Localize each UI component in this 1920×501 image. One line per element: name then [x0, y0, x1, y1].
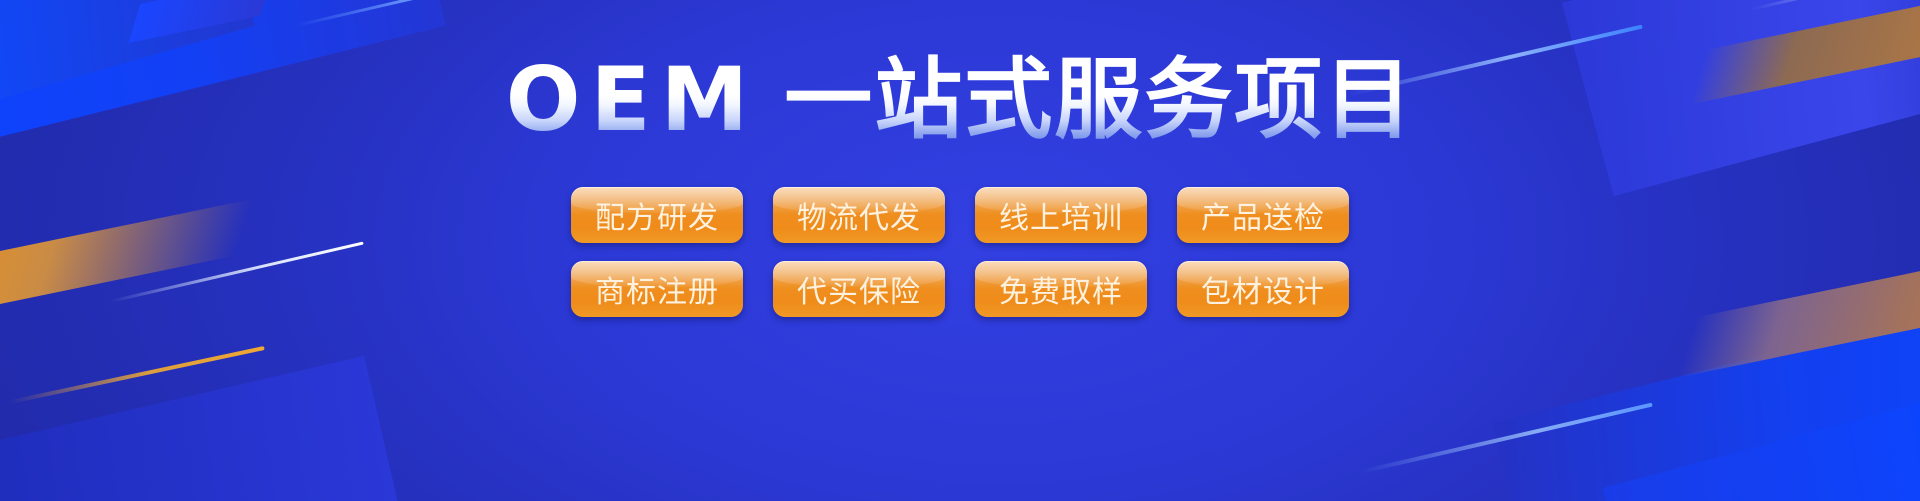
service-chip-label: 代买保险: [797, 267, 921, 311]
banner-content: OEM一站式服务项目 配方研发 物流代发 线上培训 产品送检 商标注册: [0, 0, 1920, 501]
service-chip-free-sampling[interactable]: 免费取样: [975, 261, 1147, 317]
service-chip-row-2: 商标注册 代买保险 免费取样 包材设计: [571, 261, 1349, 317]
service-chip-grid: 配方研发 物流代发 线上培训 产品送检 商标注册 代买保险: [571, 187, 1349, 317]
banner-headline: OEM一站式服务项目: [506, 52, 1415, 147]
service-chip-insurance-purchase[interactable]: 代买保险: [773, 261, 945, 317]
service-chip-label: 包材设计: [1201, 267, 1325, 311]
service-chip-packaging-design[interactable]: 包材设计: [1177, 261, 1349, 317]
promo-banner: OEM一站式服务项目 配方研发 物流代发 线上培训 产品送检 商标注册: [0, 0, 1920, 501]
service-chip-logistics-dropship[interactable]: 物流代发: [773, 187, 945, 243]
headline-chinese: 一站式服务项目: [784, 48, 1414, 151]
service-chip-trademark-registration[interactable]: 商标注册: [571, 261, 743, 317]
service-chip-row-1: 配方研发 物流代发 线上培训 产品送检: [571, 187, 1349, 243]
headline-latin: OEM: [506, 48, 759, 151]
service-chip-label: 线上培训: [999, 193, 1123, 237]
service-chip-label: 产品送检: [1201, 193, 1325, 237]
service-chip-label: 商标注册: [595, 267, 719, 311]
service-chip-online-training[interactable]: 线上培训: [975, 187, 1147, 243]
service-chip-product-inspection[interactable]: 产品送检: [1177, 187, 1349, 243]
service-chip-label: 配方研发: [595, 193, 719, 237]
service-chip-label: 免费取样: [999, 267, 1123, 311]
service-chip-label: 物流代发: [797, 193, 921, 237]
service-chip-formula-rd[interactable]: 配方研发: [571, 187, 743, 243]
